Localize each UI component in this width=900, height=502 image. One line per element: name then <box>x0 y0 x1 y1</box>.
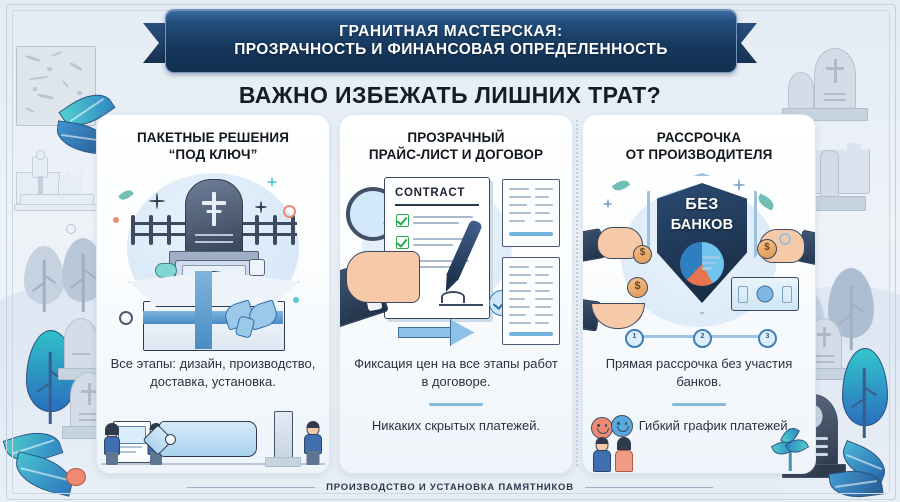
card-3-title-line2: ОТ ПРОИЗВОДИТЕЛЯ <box>626 147 773 162</box>
card-installment-plan[interactable]: РАССРОЧКА ОТ ПРОИЗВОДИТЕЛЯ БЕЗ БАНКОВ <box>582 114 816 474</box>
shield-text-line1: БЕЗ <box>650 196 754 214</box>
decor-leaf-card1 <box>118 187 134 202</box>
card-2-title: ПРОЗРАЧНЫЙ ПРАЙС-ЛИСТ И ДОГОВОР <box>348 129 564 164</box>
hand-receiving-coin <box>582 289 657 331</box>
footer: ПРОИЗВОДСТВО И УСТАНОВКА ПАМЯТНИКОВ <box>0 482 900 493</box>
timeline-node-3: 3 <box>758 329 777 348</box>
card-1-title-line1: ПАКЕТНЫЕ РЕШЕНИЯ <box>137 130 289 145</box>
card-2-illustration: CONTRACT <box>340 171 572 353</box>
card-2-body-secondary: Никаких скрытых платежей. <box>350 417 562 435</box>
coin-falling-1: $ <box>633 245 652 264</box>
gift-bow <box>225 299 281 339</box>
card-1-bottom-scene <box>97 415 329 473</box>
plant-sprout-card3 <box>775 431 805 471</box>
card-transparent-pricing[interactable]: ПРОЗРАЧНЫЙ ПРАЙС-ЛИСТ И ДОГОВОР CONTRACT <box>339 114 573 474</box>
gift-box <box>129 271 297 349</box>
customer-female <box>615 439 633 471</box>
footer-text: ПРОИЗВОДСТВО И УСТАНОВКА ПАМЯТНИКОВ <box>326 482 574 493</box>
checkbox-1 <box>396 214 409 227</box>
card-1-body-primary: Все этапы: дизайн, производство, доставк… <box>107 355 319 390</box>
sparkle-card3-b <box>603 199 612 208</box>
sparkle-card3-a <box>733 179 745 191</box>
decor-ring-card1-a <box>283 205 296 218</box>
price-tag <box>159 421 257 457</box>
hand-holding-contract <box>346 251 420 303</box>
monument-slab-base <box>265 457 301 467</box>
gift-ribbon-vertical <box>195 271 212 349</box>
card-1-title: ПАКЕТНЫЕ РЕШЕНИЯ “ПОД КЛЮЧ” <box>105 129 321 164</box>
header-ribbon: ГРАНИТНАЯ МАСТЕРСКАЯ: ПРОЗРАЧНОСТЬ И ФИН… <box>143 9 757 71</box>
sparkle-card1-a <box>149 193 165 209</box>
footer-rule-right <box>585 487 713 489</box>
card-2-body-primary: Фиксация цен на все этапы работ в догово… <box>350 355 562 390</box>
customers-group <box>591 417 655 471</box>
card-2-divider <box>429 403 483 406</box>
banknote-icon <box>731 277 799 311</box>
timeline-node-1: 1 <box>625 329 644 348</box>
infographic-canvas: ГРАНИТНАЯ МАСТЕРСКАЯ: ПРОЗРАЧНОСТЬ И ФИН… <box>0 0 900 502</box>
monument-slab-install <box>274 411 293 463</box>
shield-text-line2: БАНКОВ <box>650 217 754 233</box>
decor-dot-card1-a <box>113 217 119 223</box>
card-3-body-primary: Прямая рассрочка без участия банков. <box>593 355 805 390</box>
decor-ring-card1-b <box>119 311 133 325</box>
card-1-title-line2: “ПОД КЛЮЧ” <box>169 147 258 162</box>
monument-with-cross <box>185 179 243 255</box>
card-3-title: РАССРОЧКА ОТ ПРОИЗВОДИТЕЛЯ <box>591 129 807 164</box>
page-subtitle: ВАЖНО ИЗБЕЖАТЬ ЛИШНИХ ТРАТ? <box>0 82 900 109</box>
speech-bubble-orange <box>591 417 613 439</box>
card-3-illustration: БЕЗ БАНКОВ $ $ <box>583 171 815 353</box>
coin-right: $ <box>757 239 777 259</box>
sparkle-card1-b <box>255 201 267 213</box>
timeline-node-2: 2 <box>693 329 712 348</box>
decor-leaf-card3-a <box>612 177 630 193</box>
fence-left <box>131 215 191 245</box>
person-installer <box>303 423 323 465</box>
card-3-title-line1: РАССРОЧКА <box>657 130 741 145</box>
person-designer-female <box>103 425 121 465</box>
decor-dot-card1-b <box>293 297 299 303</box>
decor-leaf-card3-b <box>756 193 777 210</box>
price-list-page-2 <box>502 257 560 345</box>
card-2-title-line2: ПРАЙС-ЛИСТ И ДОГОВОР <box>369 147 543 162</box>
process-arrow <box>398 319 472 341</box>
card-1-illustration <box>97 171 329 353</box>
customer-male <box>593 439 611 471</box>
card-2-title-line1: ПРОЗРАЧНЫЙ <box>407 130 504 145</box>
decor-ring-card3 <box>779 233 791 245</box>
bar-lines-icon <box>702 256 720 273</box>
sparkle-card1-c <box>267 177 277 187</box>
payment-timeline: 1 2 3 <box>621 327 781 347</box>
fence-right <box>237 215 297 245</box>
contract-label: CONTRACT <box>395 187 465 199</box>
card-3-divider <box>672 403 726 406</box>
speech-bubble-blue <box>611 415 633 437</box>
price-list-page-1 <box>502 179 560 247</box>
header-title-line1: ГРАНИТНАЯ МАСТЕРСКАЯ: <box>339 23 563 41</box>
header-title-line2: ПРОЗРАЧНОСТЬ И ФИНАНСОВАЯ ОПРЕДЕЛЕННОСТЬ <box>234 41 668 59</box>
footer-rule-left <box>187 487 315 489</box>
checkbox-2 <box>396 236 409 249</box>
signature <box>439 290 483 306</box>
card-packaged-solutions[interactable]: ПАКЕТНЫЕ РЕШЕНИЯ “ПОД КЛЮЧ” <box>96 114 330 474</box>
header-title-plate: ГРАНИТНАЯ МАСТЕРСКАЯ: ПРОЗРАЧНОСТЬ И ФИН… <box>165 9 737 73</box>
cards-row: ПАКЕТНЫЕ РЕШЕНИЯ “ПОД КЛЮЧ” <box>96 114 816 472</box>
